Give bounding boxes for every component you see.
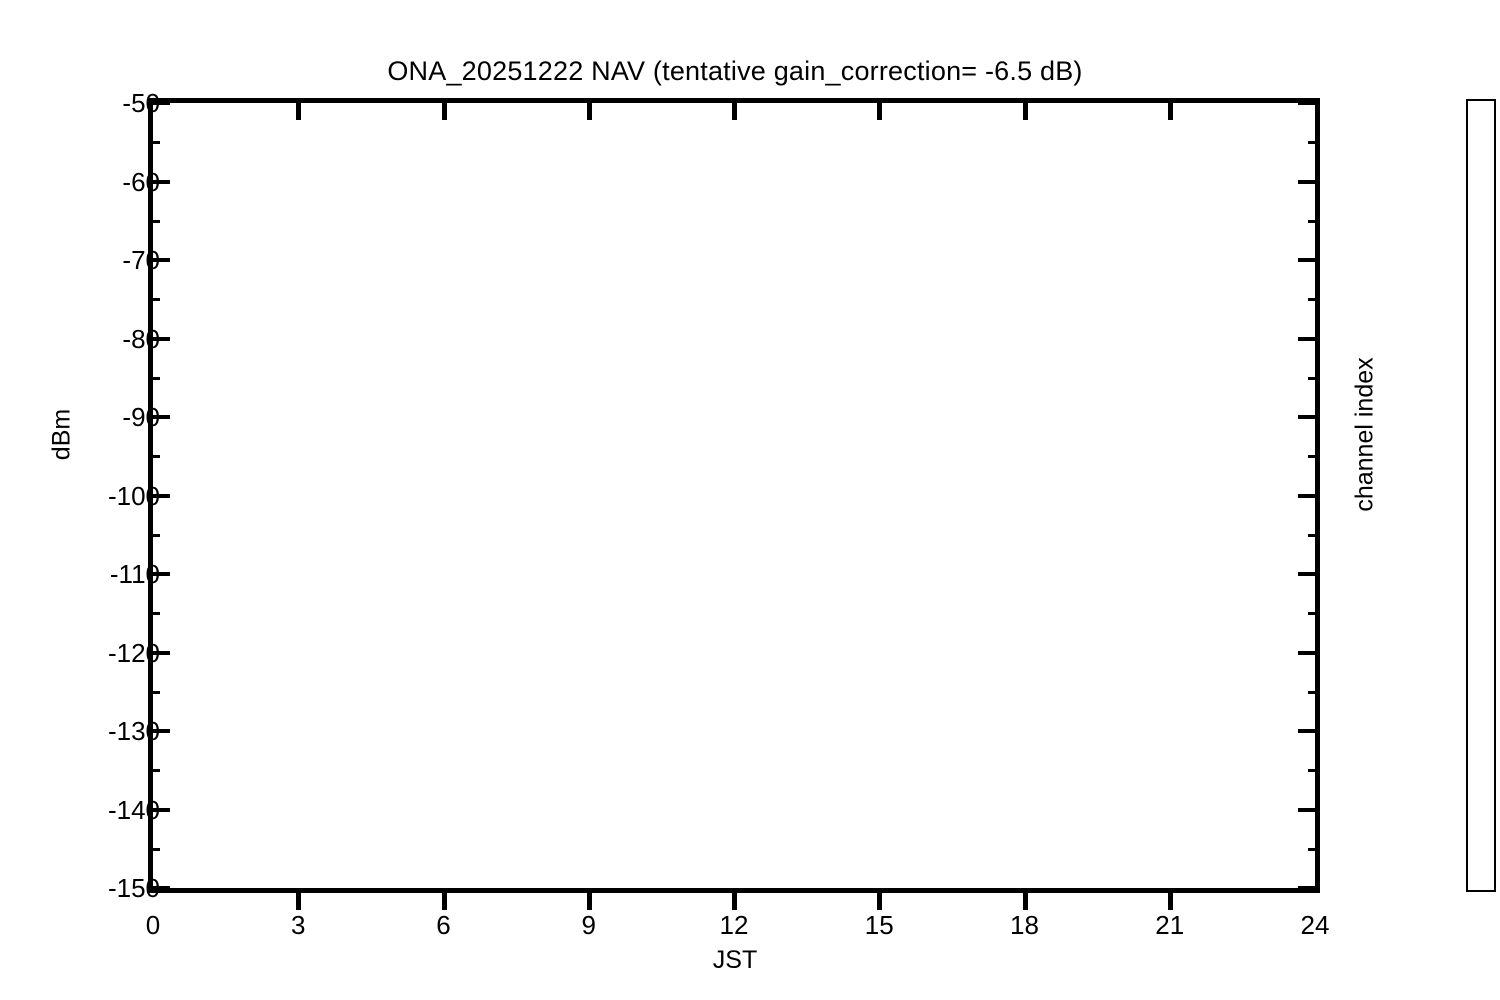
x-tick-top	[442, 98, 447, 120]
x-tick-top	[296, 98, 301, 120]
x-tick	[587, 888, 592, 910]
y-tick-label: -60	[122, 169, 160, 195]
colorbar-title: channel index	[1351, 325, 1380, 545]
y-tick-label: -140	[108, 797, 160, 823]
colorbar-gradient	[1468, 101, 1494, 890]
x-tick-label: 0	[118, 912, 188, 938]
y-tick-right	[1298, 886, 1320, 890]
y-tick-label: -90	[122, 404, 160, 430]
y-tick-minor-right	[1308, 534, 1320, 537]
x-tick	[1168, 888, 1173, 910]
y-axis-title: dBm	[48, 355, 77, 515]
y-tick-label: -110	[110, 561, 160, 587]
x-tick-top	[732, 98, 737, 120]
colorbar	[1466, 99, 1496, 892]
y-tick-right	[1298, 180, 1320, 184]
y-tick-minor-right	[1308, 141, 1320, 144]
y-tick-label: -150	[108, 875, 160, 901]
y-tick-minor	[148, 848, 160, 851]
y-tick-minor	[148, 691, 160, 694]
x-tick	[732, 888, 737, 910]
y-tick-minor	[148, 534, 160, 537]
y-tick-label: -80	[122, 326, 160, 352]
x-tick-label: 21	[1135, 912, 1205, 938]
y-tick-minor	[148, 298, 160, 301]
x-tick-top	[1168, 98, 1173, 120]
y-tick-minor-right	[1308, 220, 1320, 223]
y-tick-minor	[148, 141, 160, 144]
x-tick-label: 24	[1280, 912, 1350, 938]
y-tick-right	[1298, 808, 1320, 812]
y-tick-minor	[148, 377, 160, 380]
x-tick-top	[587, 98, 592, 120]
y-tick-minor	[148, 612, 160, 615]
x-tick-label: 3	[263, 912, 333, 938]
y-tick-label: -50	[122, 90, 160, 116]
x-tick	[442, 888, 447, 910]
x-axis-title: JST	[0, 946, 1470, 975]
y-tick-right	[1298, 337, 1320, 341]
x-tick-label: 15	[844, 912, 914, 938]
y-tick-minor	[148, 455, 160, 458]
y-tick-minor	[148, 220, 160, 223]
y-tick-minor	[148, 769, 160, 772]
y-tick-label: -70	[122, 247, 160, 273]
x-tick	[1023, 888, 1028, 910]
y-tick-right	[1298, 729, 1320, 733]
y-tick-minor-right	[1308, 848, 1320, 851]
x-tick	[877, 888, 882, 910]
y-tick-right	[1298, 258, 1320, 262]
y-tick-right	[1298, 572, 1320, 576]
y-tick-label: -100	[108, 483, 160, 509]
chart-title: ONA_20251222 NAV (tentative gain_correct…	[0, 56, 1470, 87]
y-tick-label: -120	[108, 640, 160, 666]
x-tick-label: 12	[699, 912, 769, 938]
y-tick-minor-right	[1308, 691, 1320, 694]
y-tick-minor-right	[1308, 455, 1320, 458]
x-tick	[296, 888, 301, 910]
y-tick-minor-right	[1308, 769, 1320, 772]
x-tick-label: 6	[409, 912, 479, 938]
x-tick-top	[877, 98, 882, 120]
x-tick-label: 9	[554, 912, 624, 938]
y-tick-right	[1298, 494, 1320, 498]
x-tick-label: 18	[990, 912, 1060, 938]
x-tick-top	[1023, 98, 1028, 120]
y-tick-label: -130	[108, 718, 160, 744]
y-tick-right	[1298, 101, 1320, 105]
y-tick-minor-right	[1308, 298, 1320, 301]
chart-figure: ONA_20251222 NAV (tentative gain_correct…	[0, 0, 1500, 1000]
plot-frame	[148, 98, 1320, 893]
y-tick-right	[1298, 651, 1320, 655]
y-tick-minor-right	[1308, 377, 1320, 380]
y-tick-right	[1298, 415, 1320, 419]
y-tick-minor-right	[1308, 612, 1320, 615]
